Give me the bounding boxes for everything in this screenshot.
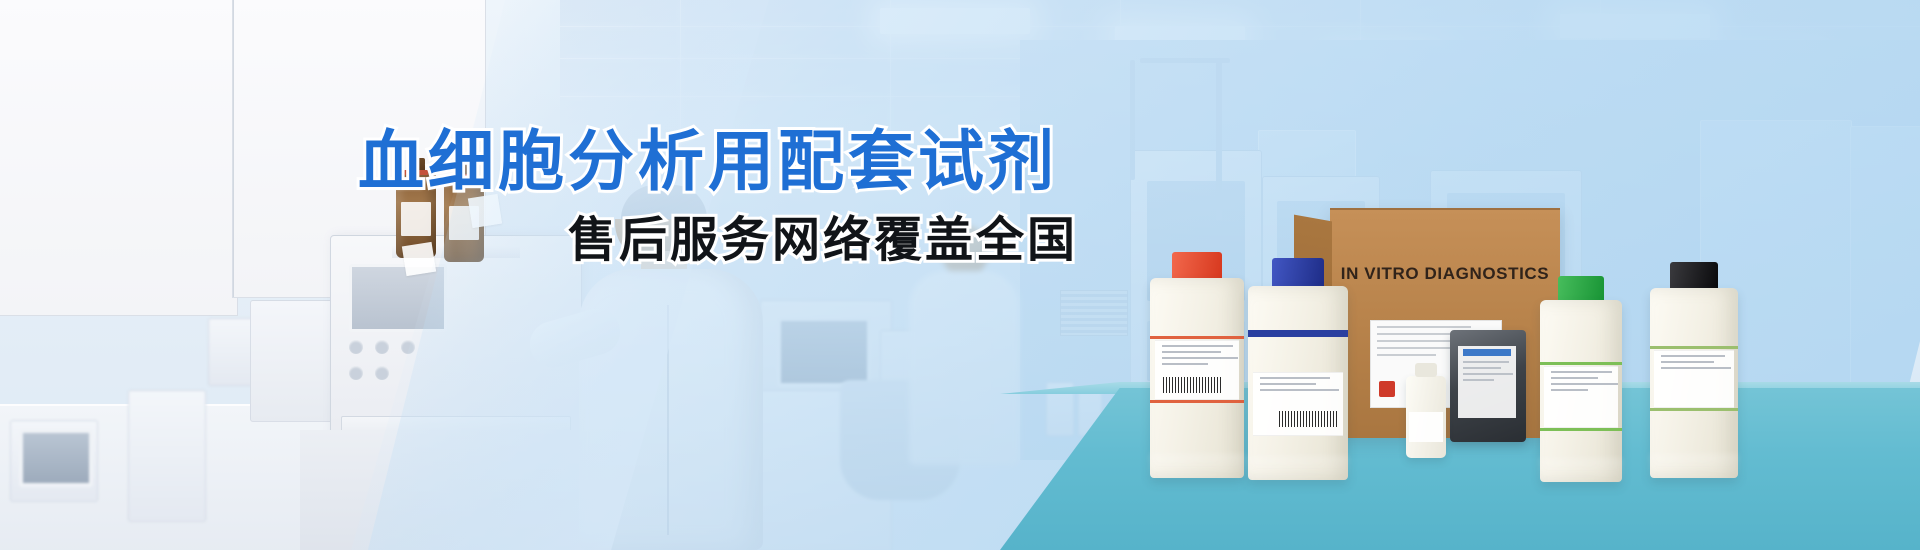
bottle-accent-band bbox=[1150, 400, 1244, 403]
bottle-label bbox=[1253, 372, 1343, 436]
bottle-body bbox=[1150, 278, 1244, 478]
label-line bbox=[1551, 383, 1617, 385]
barcode bbox=[1163, 377, 1221, 393]
desktop-monitor bbox=[10, 420, 98, 502]
label-line bbox=[1551, 377, 1598, 379]
label-line bbox=[1162, 345, 1233, 347]
bottle-label bbox=[1409, 412, 1443, 442]
bottle-accent-band bbox=[1150, 336, 1244, 339]
bottle-body bbox=[1248, 286, 1348, 480]
bottle-accent-band bbox=[1540, 362, 1622, 365]
label-line bbox=[1162, 363, 1209, 365]
bottle-accent-band bbox=[1650, 408, 1738, 411]
surface-reflection bbox=[1248, 456, 1348, 482]
label-line bbox=[1661, 367, 1731, 369]
label-line bbox=[1551, 389, 1588, 391]
bottle-label bbox=[1654, 350, 1733, 408]
label-line bbox=[1162, 357, 1238, 359]
label-line bbox=[1463, 373, 1513, 375]
surface-reflection bbox=[1650, 454, 1738, 480]
bottle-cap bbox=[1415, 363, 1437, 377]
monitor-screen bbox=[19, 429, 93, 487]
reagent-bottle-blue-cap bbox=[1248, 258, 1348, 480]
bottle-accent-band bbox=[1540, 428, 1622, 431]
label-warning-mark bbox=[1379, 381, 1395, 397]
carton-top-seam bbox=[1330, 208, 1560, 210]
surface-reflection bbox=[1540, 458, 1622, 484]
label-line bbox=[1377, 354, 1436, 356]
reagent-bottle-red-cap bbox=[1150, 252, 1244, 478]
product-group: IN VITRO DIAGNOSTICS bbox=[1150, 180, 1770, 520]
label-line bbox=[1551, 371, 1612, 373]
computer-tower bbox=[128, 390, 206, 522]
label-line bbox=[1463, 379, 1494, 381]
label-line bbox=[1162, 351, 1221, 353]
pouch-label-band bbox=[1463, 349, 1511, 356]
bottle-body bbox=[1540, 300, 1622, 482]
wall-cabinet bbox=[0, 0, 238, 316]
reagent-bottle-green-cap bbox=[1540, 276, 1622, 482]
surface-reflection bbox=[1150, 454, 1244, 480]
bottle-label bbox=[401, 202, 431, 236]
label-line bbox=[1463, 367, 1501, 369]
cabinet-seam bbox=[233, 0, 234, 297]
pouch-label bbox=[1458, 346, 1516, 418]
bottle-label bbox=[1155, 340, 1240, 400]
label-line bbox=[1260, 389, 1339, 391]
barcode bbox=[1279, 411, 1337, 427]
reagent-pouch-foil bbox=[1450, 330, 1526, 442]
reagent-bottle-black-cap bbox=[1650, 262, 1738, 478]
reagent-bottle-small bbox=[1406, 376, 1446, 458]
bottle-body bbox=[1650, 288, 1738, 478]
hero-banner: IN VITRO DIAGNOSTICS bbox=[0, 0, 1920, 550]
label-line bbox=[1260, 383, 1316, 385]
bottle-accent-band bbox=[1650, 346, 1738, 349]
label-line bbox=[1260, 377, 1330, 379]
label-line bbox=[1661, 355, 1724, 357]
label-line bbox=[1463, 361, 1509, 363]
bottle-label bbox=[1544, 366, 1618, 428]
label-line bbox=[1661, 361, 1713, 363]
carton-label-text: IN VITRO DIAGNOSTICS bbox=[1330, 264, 1560, 284]
label-line bbox=[1377, 326, 1471, 328]
label-line bbox=[1377, 340, 1455, 342]
bottle-accent-band bbox=[1248, 330, 1348, 337]
